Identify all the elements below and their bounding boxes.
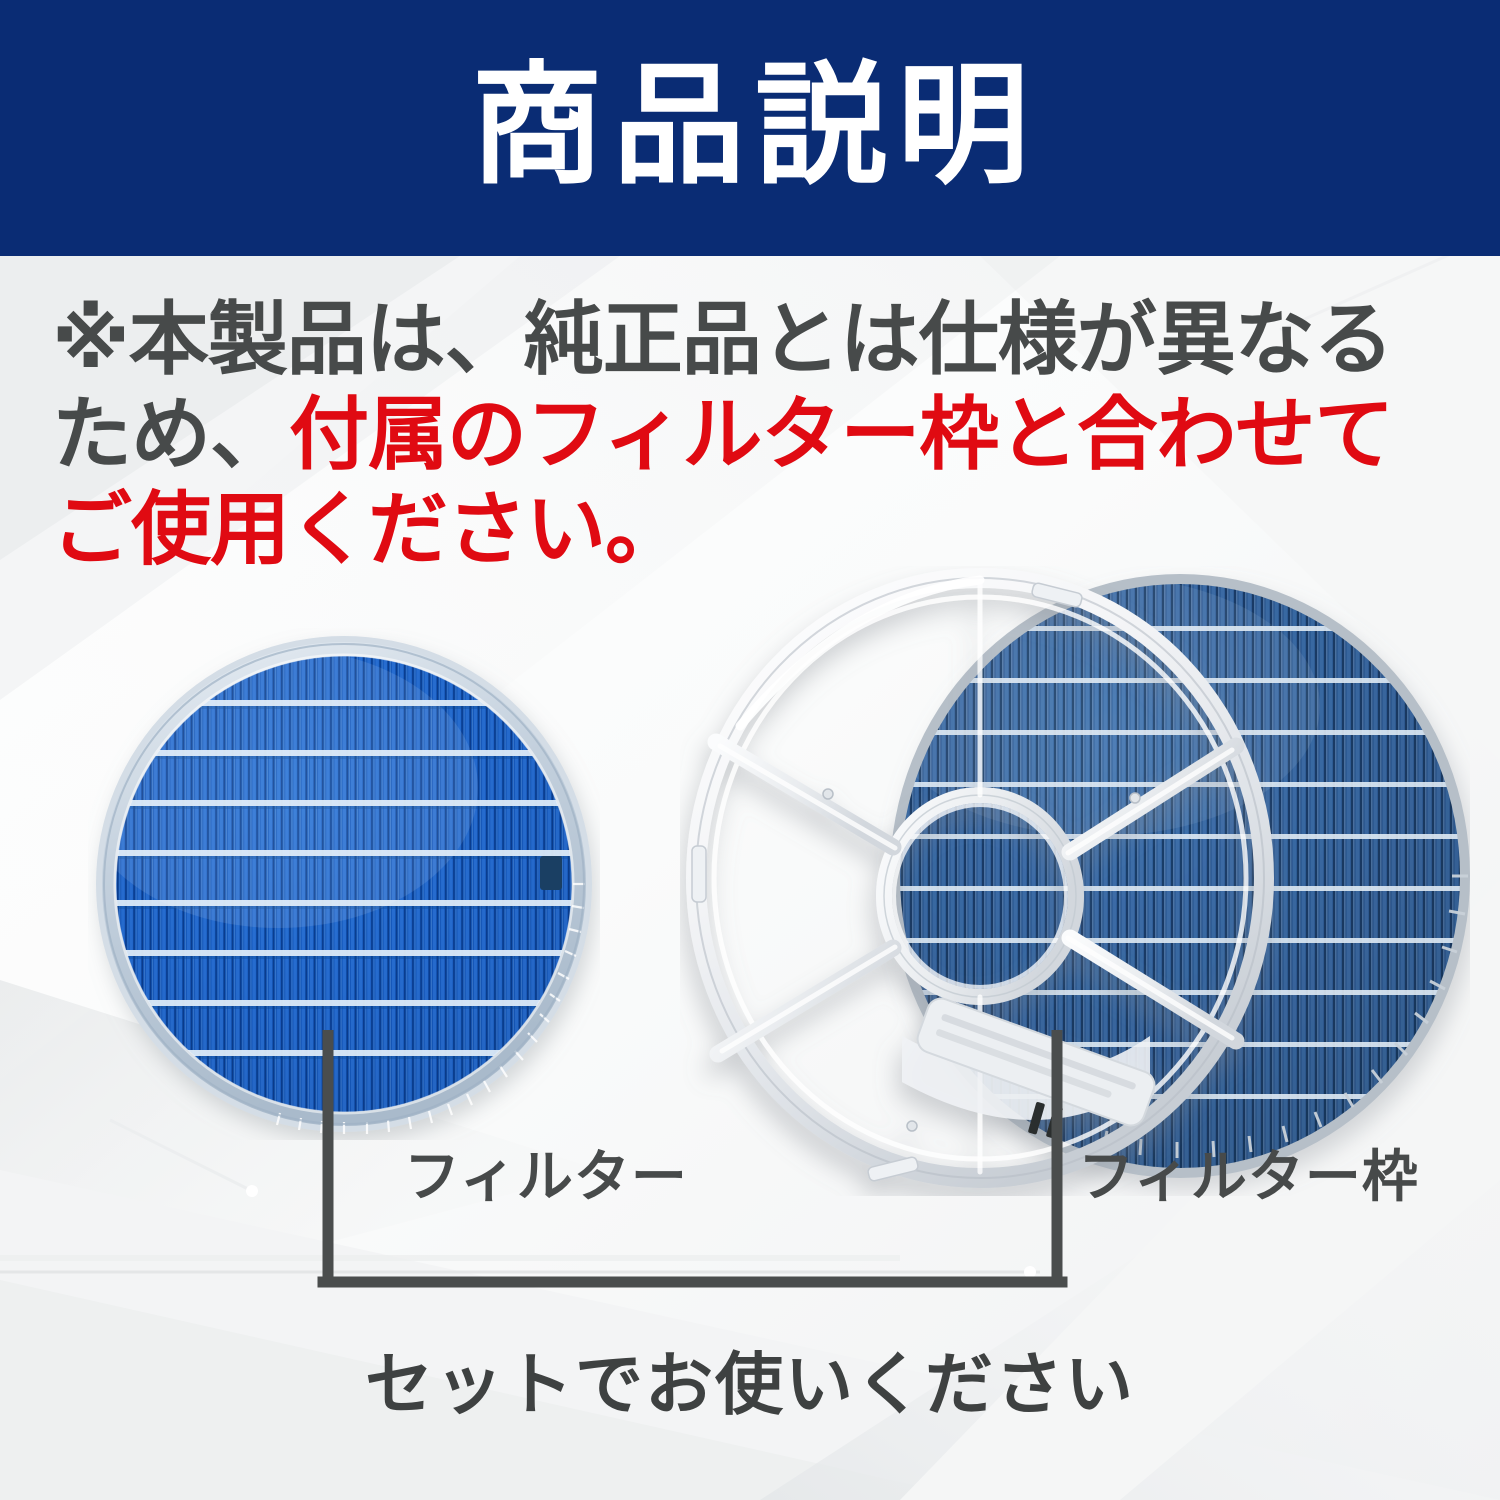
notice-line-plain-2: ため、 bbox=[52, 388, 289, 481]
header-banner: 商品説明 bbox=[0, 0, 1500, 256]
label-filter-frame: フィルター枠 bbox=[1078, 1150, 1419, 1206]
label-filter: フィルター bbox=[404, 1150, 688, 1206]
page-title: 商品説明 bbox=[461, 60, 1039, 192]
notice-text-block: ※本製品は、純正品とは仕様が異なるため、付属のフィルター枠と合わせてご使用くださ… bbox=[52, 292, 1452, 578]
product-description-banner: 商品説明 ※本製品は、純正品とは仕様が異なるため、付属のフィルター枠と合わせてご… bbox=[0, 0, 1500, 1500]
notice-line-plain-1: ※本製品は、純正品とは仕様が異なる bbox=[52, 293, 1393, 386]
footnote-use-as-set: セットでお使いください bbox=[0, 1352, 1500, 1420]
